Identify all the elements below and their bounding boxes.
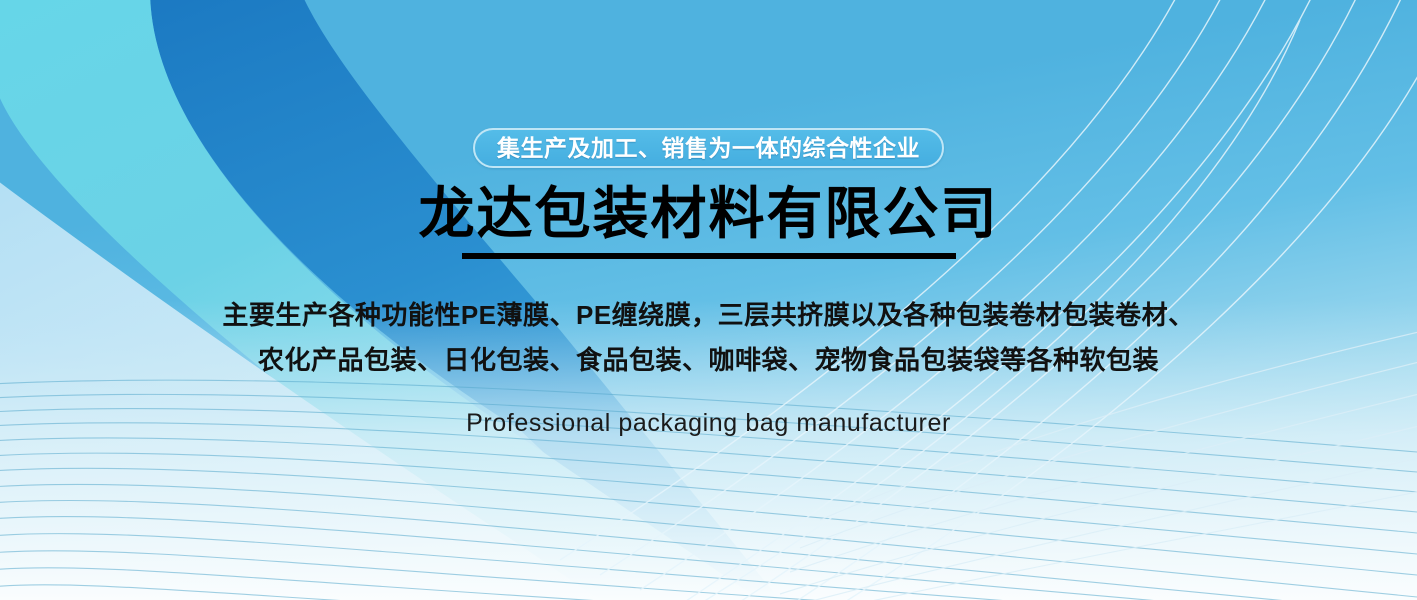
business-description-line-2: 农化产品包装、日化包装、食品包装、咖啡袋、宠物食品包装袋等各种软包装 [222, 338, 1194, 383]
business-description: 主要生产各种功能性PE薄膜、PE缠绕膜，三层共挤膜以及各种包装卷材包装卷材、 农… [222, 293, 1194, 382]
tagline-badge-label: 集生产及加工、销售为一体的综合性企业 [497, 137, 920, 160]
title-underline-rule [462, 253, 956, 259]
promo-banner: 集生产及加工、销售为一体的综合性企业 龙达包装材料有限公司 主要生产各种功能性P… [0, 0, 1417, 600]
business-description-line-1: 主要生产各种功能性PE薄膜、PE缠绕膜，三层共挤膜以及各种包装卷材包装卷材、 [222, 293, 1194, 338]
company-title-block: 龙达包装材料有限公司 [419, 184, 999, 259]
tagline-badge: 集生产及加工、销售为一体的综合性企业 [473, 128, 944, 168]
banner-content: 集生产及加工、销售为一体的综合性企业 龙达包装材料有限公司 主要生产各种功能性P… [0, 0, 1417, 600]
company-title: 龙达包装材料有限公司 [419, 184, 999, 244]
english-subtitle: Professional packaging bag manufacturer [466, 409, 951, 438]
